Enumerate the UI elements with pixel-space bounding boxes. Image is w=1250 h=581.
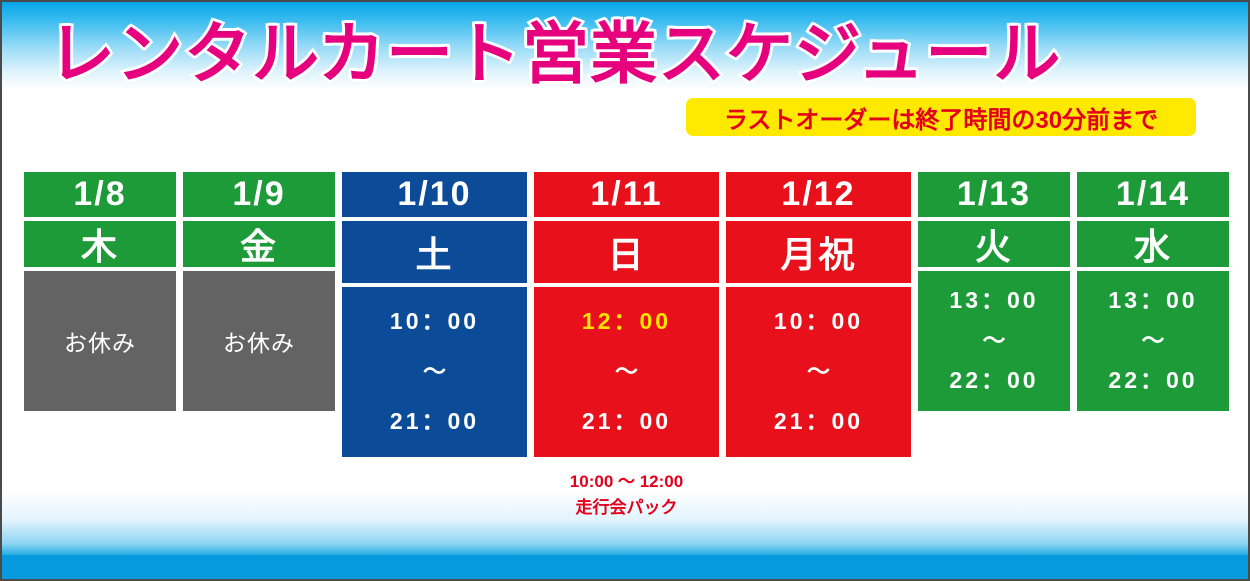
opening-time: 10：00	[774, 309, 863, 334]
last-order-notice-text: ラストオーダーは終了時間の30分前まで	[724, 100, 1158, 135]
day-hours-cell: 12：00〜21：00	[534, 287, 719, 457]
closing-time: 22：00	[1108, 368, 1197, 393]
day-weekday-cell: 木	[24, 221, 176, 267]
schedule-day-column: 1/12月祝10：00〜21：00	[726, 172, 911, 457]
schedule-day-card: 1/11日12：00〜21：00	[534, 172, 719, 457]
day-weekday-cell: 火	[918, 221, 1070, 267]
time-range-separator: 〜	[983, 328, 1006, 353]
closing-time: 22：00	[949, 368, 1038, 393]
day-weekday-cell: 土	[342, 221, 527, 283]
opening-time: 13：00	[949, 288, 1038, 313]
note-line-1: 10:00 〜 12:00	[534, 469, 719, 495]
schedule-day-column: 1/10土10：00〜21：00	[342, 172, 527, 457]
day-hours-cell: 10：00〜21：00	[726, 287, 911, 457]
closing-time: 21：00	[390, 409, 479, 434]
note-line-2: 走行会パック	[534, 495, 719, 521]
day-date-cell: 1/13	[918, 172, 1070, 217]
day-hours-cell: 13：00〜22：00	[918, 271, 1070, 411]
schedule-day-card: 1/12月祝10：00〜21：00	[726, 172, 911, 457]
schedule-poster: レンタルカート営業スケジュール ラストオーダーは終了時間の30分前まで 1/8木…	[0, 0, 1250, 581]
day-date-cell: 1/9	[183, 172, 335, 217]
schedule-day-column: 1/13火13：00〜22：00	[918, 172, 1070, 411]
closing-time: 21：00	[582, 409, 671, 434]
page-title: レンタルカート営業スケジュール	[48, 20, 1061, 90]
day-date-cell: 1/11	[534, 172, 719, 217]
bottom-cyan-band	[2, 555, 1248, 579]
schedule-day-card: 1/8木お休み	[24, 172, 176, 411]
schedule-day-column: 1/11日12：00〜21：0010:00 〜 12:00走行会パック	[534, 172, 719, 520]
day-date-cell: 1/14	[1077, 172, 1229, 217]
schedule-day-column: 1/8木お休み	[24, 172, 176, 411]
day-weekday-cell: 日	[534, 221, 719, 283]
day-weekday-cell: 月祝	[726, 221, 911, 283]
schedule-day-card: 1/10土10：00〜21：00	[342, 172, 527, 457]
day-weekday-cell: 金	[183, 221, 335, 267]
time-range-separator: 〜	[423, 359, 446, 384]
day-extra-note: 10:00 〜 12:00走行会パック	[534, 469, 719, 520]
schedule-day-card: 1/14水13：00〜22：00	[1077, 172, 1229, 411]
opening-time: 12：00	[582, 309, 671, 334]
schedule-day-column: 1/14水13：00〜22：00	[1077, 172, 1229, 411]
day-closed-cell: お休み	[24, 271, 176, 411]
schedule-day-card: 1/9金お休み	[183, 172, 335, 411]
schedule-day-card: 1/13火13：00〜22：00	[918, 172, 1070, 411]
page-title-text: レンタルカート営業スケジュール	[48, 17, 1061, 92]
opening-time: 10：00	[390, 309, 479, 334]
day-hours-cell: 13：00〜22：00	[1077, 271, 1229, 411]
time-range-separator: 〜	[1142, 328, 1165, 353]
closed-label: お休み	[64, 324, 136, 358]
schedule-grid: 1/8木お休み1/9金お休み1/10土10：00〜21：001/11日12：00…	[24, 172, 1234, 520]
day-hours-cell: 10：00〜21：00	[342, 287, 527, 457]
day-date-cell: 1/8	[24, 172, 176, 217]
time-range-separator: 〜	[807, 359, 830, 384]
closing-time: 21：00	[774, 409, 863, 434]
day-weekday-cell: 水	[1077, 221, 1229, 267]
time-range-separator: 〜	[615, 359, 638, 384]
day-closed-cell: お休み	[183, 271, 335, 411]
day-date-cell: 1/10	[342, 172, 527, 217]
day-date-cell: 1/12	[726, 172, 911, 217]
closed-label: お休み	[223, 324, 295, 358]
schedule-day-column: 1/9金お休み	[183, 172, 335, 411]
opening-time: 13：00	[1108, 288, 1197, 313]
last-order-notice-badge: ラストオーダーは終了時間の30分前まで	[686, 98, 1196, 136]
